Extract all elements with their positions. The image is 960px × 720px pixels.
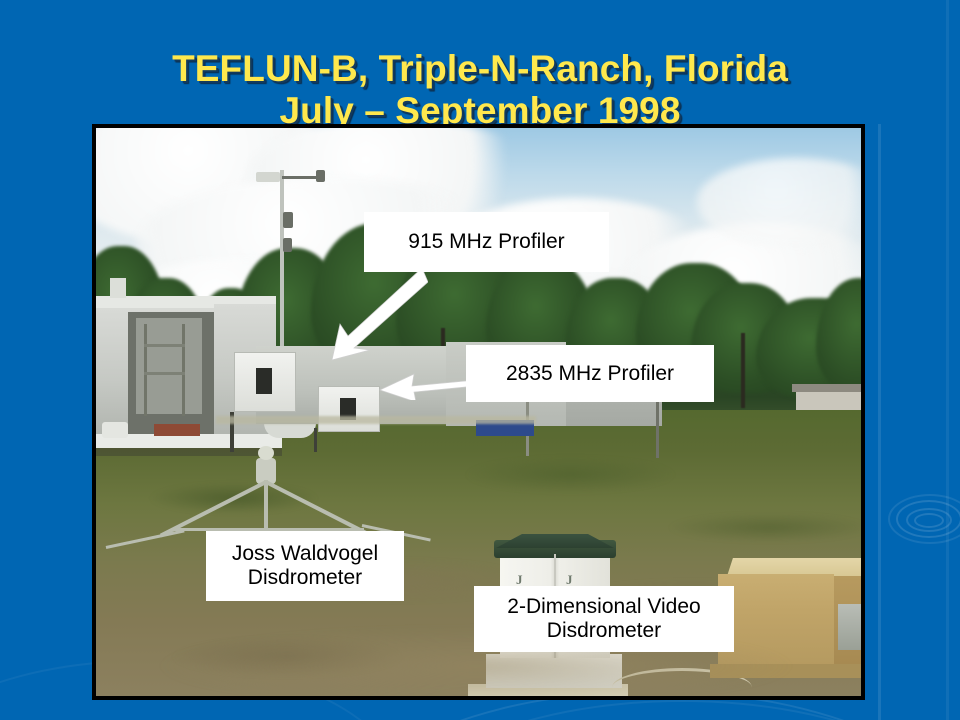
callout-2835-label: 2835 MHz Profiler (506, 362, 674, 386)
trailer-equipment (102, 422, 128, 438)
gravel-drive (216, 416, 536, 424)
trailer-ladder (144, 324, 147, 416)
shed-air-conditioner (838, 604, 861, 650)
left-arrow (376, 362, 478, 400)
photo-content: J J 915 MHz Profiler (96, 128, 861, 696)
joss-waldvogel-stem (264, 480, 268, 530)
callout-2d-video-disdrometer[interactable]: 2-Dimensional Video Disdrometer (474, 586, 734, 652)
callout-915-mhz-profiler[interactable]: 915 MHz Profiler (364, 212, 609, 272)
wind-vane (256, 172, 280, 182)
slide-canvas: TEFLUN-B, Triple-N-Ranch, Florida July –… (0, 0, 960, 720)
site-photograph: J J 915 MHz Profiler (92, 124, 865, 700)
anemometer-cup (316, 170, 325, 182)
distant-building-roof (792, 384, 861, 392)
joss-waldvogel-sensor-cap (258, 446, 274, 460)
trailer-ladder-rung (144, 372, 185, 375)
callout-joss-waldvogel-disdrometer[interactable]: Joss Waldvogel Disdrometer (206, 531, 404, 601)
callout-video-label: 2-Dimensional Video Disdrometer (507, 595, 700, 643)
decorative-vertical-line (878, 124, 881, 720)
mast-sensor (283, 212, 293, 228)
decorative-ripple-icon (906, 508, 952, 532)
tree-trunk (741, 333, 745, 408)
trailer-rooftop-vent (110, 278, 126, 298)
decorative-ripple-icon (914, 513, 944, 528)
trailer-ladder-rung (144, 344, 185, 347)
down-left-arrow (318, 264, 428, 364)
profiler-cable (314, 428, 317, 452)
decorative-ripple-icon (888, 494, 960, 544)
decorative-ripple-icon (896, 500, 960, 538)
trailer-shadow (96, 448, 282, 456)
title-line-1: TEFLUN-B, Triple-N-Ranch, Florida (172, 48, 788, 89)
callout-joss-label: Joss Waldvogel Disdrometer (232, 542, 378, 590)
trailer-ladder (182, 324, 185, 416)
trailer-equipment (154, 424, 200, 436)
mast-sensor (283, 238, 292, 252)
callout-915-label: 915 MHz Profiler (408, 230, 564, 254)
decorative-arc (380, 700, 960, 720)
callout-2835-mhz-profiler[interactable]: 2835 MHz Profiler (466, 345, 714, 402)
profiler-915-cabinet-window (256, 368, 272, 394)
